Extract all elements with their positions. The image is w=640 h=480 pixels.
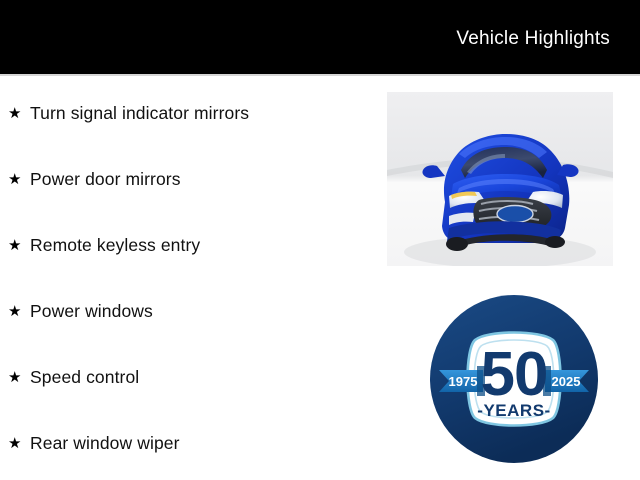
highlight-label: Speed control bbox=[30, 366, 139, 388]
badge-year-end: 2025 bbox=[552, 374, 581, 389]
highlight-label: Power windows bbox=[30, 300, 153, 322]
badge-year-start: 1975 bbox=[449, 374, 478, 389]
page-title: Vehicle Highlights bbox=[456, 28, 610, 50]
list-item: ★Remote keyless entry bbox=[0, 212, 380, 278]
anniversary-badge-50-years: 1975 2025 50 -YEARS- bbox=[427, 292, 601, 466]
list-item: ★Power door mirrors bbox=[0, 146, 380, 212]
vehicle-highlights-slide: Vehicle Highlights ★Turn signal indicato… bbox=[0, 0, 640, 480]
list-item: ★Rear window wiper bbox=[0, 410, 380, 476]
star-icon: ★ bbox=[8, 370, 30, 385]
highlight-label: Remote keyless entry bbox=[30, 234, 200, 256]
star-icon: ★ bbox=[8, 304, 30, 319]
star-icon: ★ bbox=[8, 172, 30, 187]
list-item: ★Turn signal indicator mirrors bbox=[0, 80, 380, 146]
highlight-label: Rear window wiper bbox=[30, 432, 180, 454]
header-divider bbox=[0, 74, 640, 76]
vehicle-photo bbox=[387, 92, 613, 266]
page-header: Vehicle Highlights bbox=[0, 0, 640, 74]
highlight-label: Power door mirrors bbox=[30, 168, 181, 190]
badge-number: 50 bbox=[481, 340, 548, 409]
star-icon: ★ bbox=[8, 436, 30, 451]
highlight-label: Turn signal indicator mirrors bbox=[30, 102, 249, 124]
list-item: ★Speed control bbox=[0, 344, 380, 410]
star-icon: ★ bbox=[8, 238, 30, 253]
badge-caption: -YEARS- bbox=[477, 401, 550, 420]
star-icon: ★ bbox=[8, 106, 30, 121]
list-item: ★Power windows bbox=[0, 278, 380, 344]
vehicle-highlights-list: ★Turn signal indicator mirrors★Power doo… bbox=[0, 80, 380, 476]
